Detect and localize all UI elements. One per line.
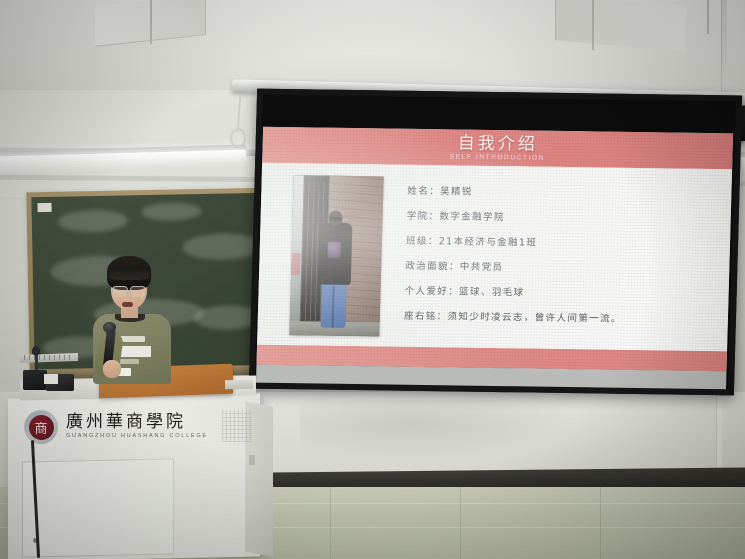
presentation-slide: 自我介绍 SELF INTRODUCTION [256, 127, 733, 371]
screen-cord-loop[interactable] [230, 128, 246, 148]
desk-microphone-icon[interactable] [32, 346, 40, 355]
slide-line-hobbies: 个人爱好：篮球、羽毛球 [404, 283, 622, 300]
ceiling-seam [592, 0, 594, 50]
presenter-fringe [108, 268, 150, 280]
board-notice [37, 203, 51, 212]
slide-body: 姓名：吴精锐 学院：数字金融学院 班级：21本经济与金融1班 政治面貌：中共党员… [257, 163, 732, 351]
lectern-nameplate: 商 廣州華商學院 GUANGZHOU HUASHANG COLLEGE [14, 404, 246, 450]
slide-line-motto: 座右铭：须知少时凌云志，曾许人间第一流。 [404, 308, 622, 325]
chalk-smudge [182, 233, 262, 261]
wall-stain [300, 400, 580, 460]
wall-pipe [721, 0, 727, 92]
ceiling-seam [707, 0, 709, 34]
tile-grout [330, 487, 331, 559]
photo-person-sunglasses-icon [330, 217, 342, 221]
projection-screen: 自我介绍 SELF INTRODUCTION [249, 89, 742, 396]
slide-line-faculty: 学院：数字金融学院 [407, 208, 625, 225]
glasses-icon [112, 286, 128, 298]
slide-line-political: 政治面貌：中共党员 [405, 258, 623, 275]
classroom-photo-scene: 自我介绍 SELF INTRODUCTION [0, 0, 745, 559]
college-seal-icon: 商 [24, 410, 58, 444]
seal-glyph: 商 [29, 415, 54, 440]
photo-person-graphic [327, 242, 340, 258]
chalk-smudge [58, 209, 128, 232]
slide-info-list: 姓名：吴精锐 学院：数字金融学院 班级：21本经济与金融1班 政治面貌：中共党员… [404, 183, 626, 325]
glasses-icon [130, 286, 146, 298]
lectern-latch[interactable] [249, 455, 255, 465]
desk-device-label [44, 374, 58, 384]
desk-edge [225, 380, 253, 390]
tile-grout [600, 487, 601, 559]
college-name-cn: 廣州華商學院 [66, 414, 208, 431]
lectern-cabinet-door[interactable] [22, 458, 174, 557]
tile-grout [460, 487, 461, 559]
presenter-mouth [122, 302, 133, 307]
presenter-hand [103, 360, 121, 378]
slide-subtitle: SELF INTRODUCTION [450, 153, 545, 161]
glasses-bridge [126, 290, 130, 291]
microphone-head-icon [103, 322, 116, 333]
slide-line-name: 姓名：吴精锐 [407, 183, 625, 200]
slide-photo [289, 175, 383, 336]
slide-title: 自我介绍 [457, 135, 537, 154]
college-name-block: 廣州華商學院 GUANGZHOU HUASHANG COLLEGE [66, 414, 208, 440]
chalk-smudge [142, 202, 202, 221]
photo-red-sign [291, 253, 301, 275]
ceiling-seam [150, 0, 152, 44]
college-name-en: GUANGZHOU HUASHANG COLLEGE [66, 434, 208, 440]
desk-microphone-stand[interactable] [35, 352, 38, 372]
equipment-tray-slots [24, 355, 72, 360]
presenter [85, 256, 177, 384]
slide-line-class: 班级：21本经济与金融1班 [406, 233, 624, 250]
